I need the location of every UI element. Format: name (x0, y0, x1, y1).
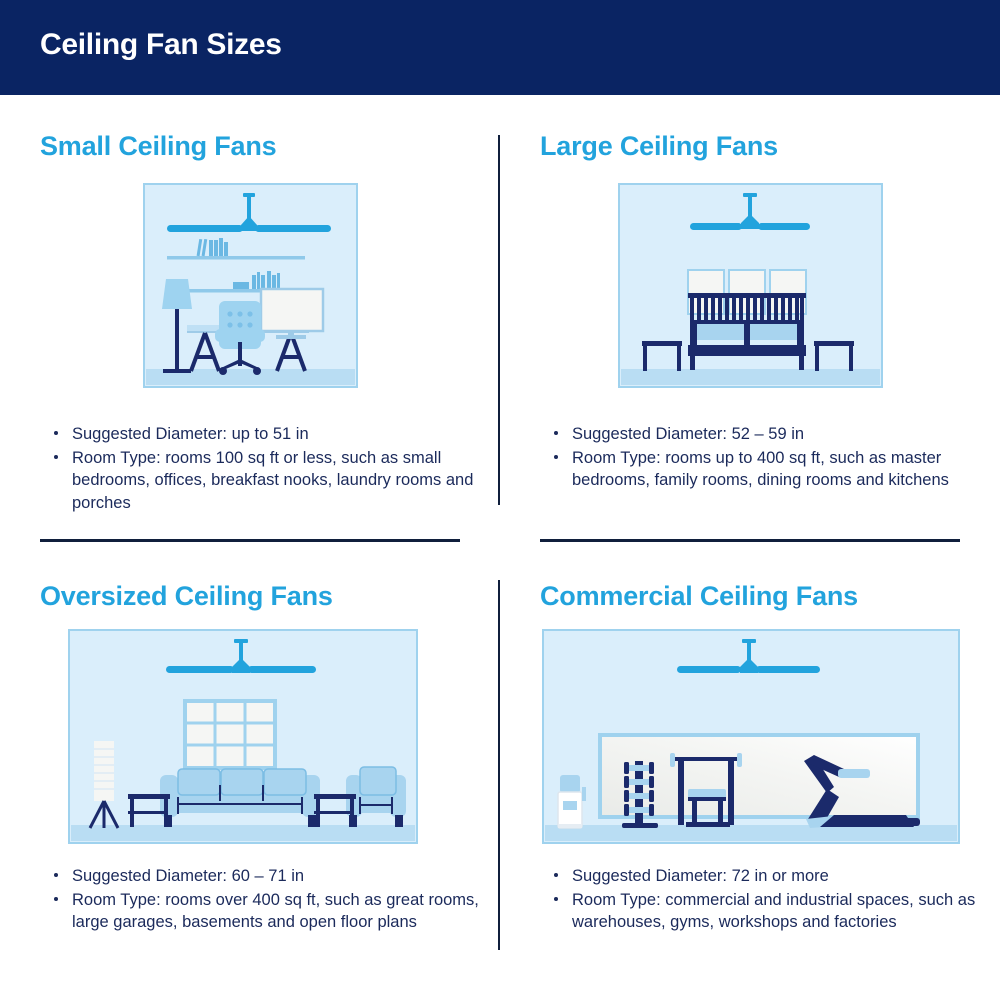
bullet-text: Room Type: rooms up to 400 sq ft, such a… (572, 449, 949, 490)
section-large-ceiling-fans: Large Ceiling Fans (500, 95, 1000, 545)
bullet-list-commercial: Suggested Diameter: 72 in or more Room T… (550, 865, 980, 935)
list-item: Suggested Diameter: 60 – 71 in (50, 865, 480, 888)
bullet-dot (554, 455, 558, 459)
list-item: Room Type: rooms up to 400 sq ft, such a… (550, 447, 980, 492)
bullet-text: Suggested Diameter: up to 51 in (72, 425, 309, 443)
page-title: Ceiling Fan Sizes (40, 28, 282, 62)
list-item: Suggested Diameter: up to 51 in (50, 423, 480, 446)
illustration-home-office (143, 183, 358, 388)
bullet-dot (54, 455, 58, 459)
section-commercial-ceiling-fans: Commercial Ceiling Fans (500, 545, 1000, 1000)
header-bar: Ceiling Fan Sizes (0, 0, 1000, 95)
bullet-text: Suggested Diameter: 52 – 59 in (572, 425, 804, 443)
section-title-oversized: Oversized Ceiling Fans (40, 581, 333, 612)
illustration-bedroom (618, 183, 883, 388)
illustration-living-room (68, 629, 418, 844)
illustration-gym (542, 629, 960, 844)
list-item: Suggested Diameter: 72 in or more (550, 865, 980, 888)
bullet-text: Room Type: rooms 100 sq ft or less, such… (72, 449, 473, 512)
bullet-text: Room Type: rooms over 400 sq ft, such as… (72, 891, 479, 932)
list-item: Room Type: rooms over 400 sq ft, such as… (50, 889, 480, 934)
bullet-list-small: Suggested Diameter: up to 51 in Room Typ… (50, 423, 480, 515)
section-title-large: Large Ceiling Fans (540, 131, 778, 162)
section-oversized-ceiling-fans: Oversized Ceiling Fans (0, 545, 500, 1000)
bullet-dot (554, 431, 558, 435)
infographic-page: Ceiling Fan Sizes Small Ceiling Fans (0, 0, 1000, 1000)
bullet-list-large: Suggested Diameter: 52 – 59 in Room Type… (550, 423, 980, 493)
bullet-dot (54, 873, 58, 877)
bullet-text: Suggested Diameter: 60 – 71 in (72, 867, 304, 885)
list-item: Room Type: rooms 100 sq ft or less, such… (50, 447, 480, 515)
bullet-list-oversized: Suggested Diameter: 60 – 71 in Room Type… (50, 865, 480, 935)
bullet-text: Suggested Diameter: 72 in or more (572, 867, 829, 885)
bullet-dot (554, 873, 558, 877)
bullet-dot (54, 431, 58, 435)
list-item: Room Type: commercial and industrial spa… (550, 889, 980, 934)
bullet-text: Room Type: commercial and industrial spa… (572, 891, 975, 932)
bullet-dot (554, 897, 558, 901)
section-title-small: Small Ceiling Fans (40, 131, 276, 162)
bullet-dot (54, 897, 58, 901)
section-title-commercial: Commercial Ceiling Fans (540, 581, 858, 612)
list-item: Suggested Diameter: 52 – 59 in (550, 423, 980, 446)
section-small-ceiling-fans: Small Ceiling Fans (0, 95, 500, 545)
